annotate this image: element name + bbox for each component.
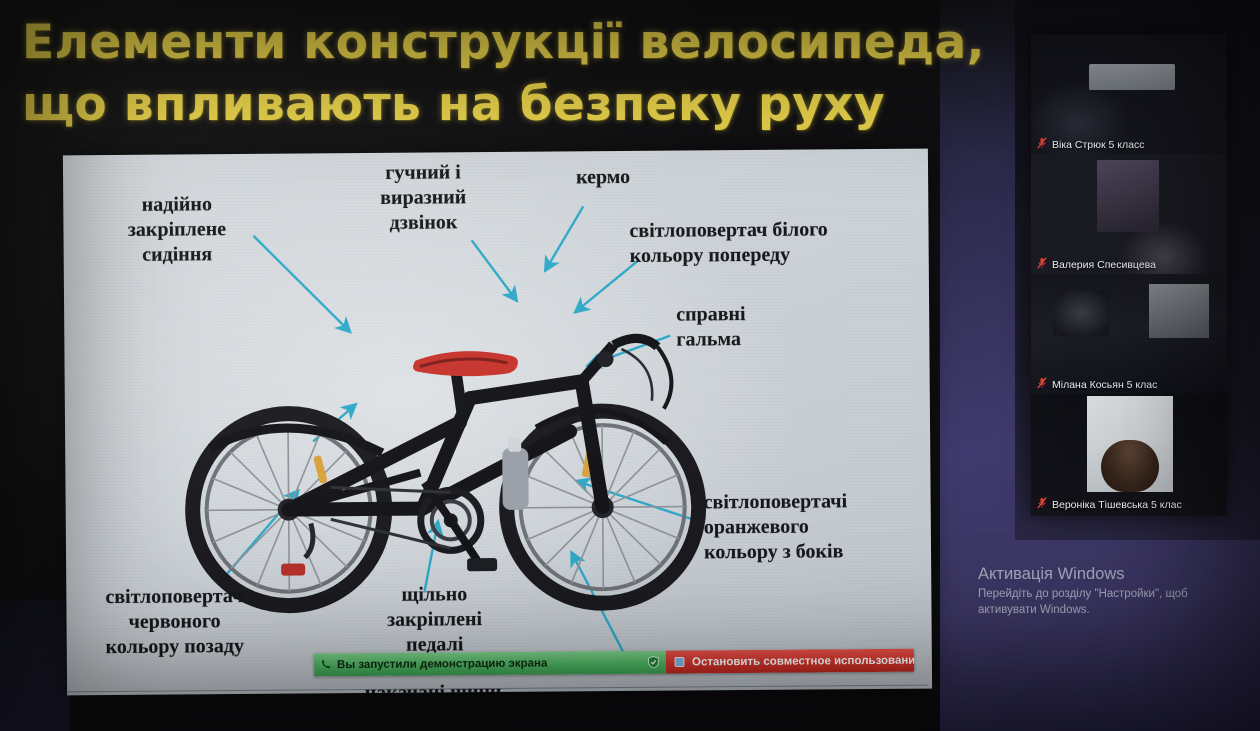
callout-front-reflector: світлоповертач білого кольору попереду	[629, 217, 891, 269]
participant-name: Вероніка Тішевська 5 клас	[1052, 499, 1182, 511]
participant-video-strip[interactable]: Віка Стрюк 5 класс Валерия Спесивцева	[1031, 34, 1227, 516]
participant-tile[interactable]: Віка Стрюк 5 класс	[1031, 34, 1227, 154]
participant-tile[interactable]: Мілана Косьян 5 клас	[1031, 274, 1227, 394]
bell	[597, 351, 613, 367]
saddle	[413, 351, 518, 377]
callout-pedals: щільно закріплені педалі	[354, 582, 515, 658]
participant-nameplate: Вероніка Тішевська 5 клас	[1031, 497, 1227, 512]
callout-bell: гучний і виразний дзвінок	[348, 160, 499, 236]
participant-tile[interactable]: Вероніка Тішевська 5 клас	[1031, 394, 1227, 514]
page-title-line-1: Елементи конструкції велосипеда,	[22, 12, 1002, 74]
pedal	[467, 558, 497, 571]
participant-nameplate: Мілана Косьян 5 клас	[1031, 377, 1227, 392]
screen-share-toolbar[interactable]: Вы запустили демонстрацию экрана Останов…	[314, 649, 914, 677]
shield-check-icon[interactable]	[647, 656, 660, 669]
stop-share-icon	[674, 656, 685, 667]
sharing-status-text: Вы запустили демонстрацию экрана	[337, 657, 547, 671]
mic-muted-icon	[1037, 257, 1047, 272]
slide-image-panel: надійно закріплене сидіння гучний і вира…	[63, 149, 932, 696]
callout-seat: надійно закріплене сидіння	[89, 192, 265, 268]
participant-video-thumbnail	[1031, 274, 1227, 394]
participant-name: Мілана Косьян 5 клас	[1052, 379, 1157, 391]
sharing-status-segment: Вы запустили демонстрацию экрана	[314, 651, 666, 677]
stop-sharing-label: Остановить совместное использование	[692, 654, 914, 668]
stop-sharing-button[interactable]: Остановить совместное использование	[666, 649, 914, 674]
mic-muted-icon	[1037, 137, 1047, 152]
participant-nameplate: Валерия Спесивцева	[1031, 257, 1227, 272]
mic-muted-icon	[1037, 377, 1047, 392]
mic-muted-icon	[1037, 497, 1047, 512]
participant-video-thumbnail	[1031, 154, 1227, 274]
participant-face	[1087, 396, 1173, 492]
bicycle-illustration	[169, 270, 722, 634]
screen-photo: Елементи конструкції велосипеда, що впли…	[0, 0, 1260, 731]
page-title: Елементи конструкції велосипеда, що впли…	[22, 12, 1002, 136]
participant-name: Валерия Спесивцева	[1052, 259, 1156, 271]
phone-icon	[320, 659, 331, 670]
participant-tile[interactable]: Валерия Спесивцева	[1031, 154, 1227, 274]
callout-side-reflectors: світлоповертачі оранжевого кольору з бок…	[704, 489, 915, 566]
participant-video-thumbnail	[1031, 34, 1227, 154]
participant-name: Віка Стрюк 5 класс	[1052, 139, 1144, 151]
callout-rear-reflector: світлоповертач червоного кольору позаду	[68, 584, 281, 661]
participant-video-thumbnail	[1031, 394, 1227, 514]
backdrop-bottom-left-navy	[0, 600, 70, 731]
participant-nameplate: Віка Стрюк 5 класс	[1031, 137, 1227, 152]
callout-handlebar: кермо	[543, 165, 663, 191]
page-title-line-2: що впливають на безпеку руху	[22, 74, 1002, 136]
callout-brakes: справні гальма	[676, 301, 826, 352]
